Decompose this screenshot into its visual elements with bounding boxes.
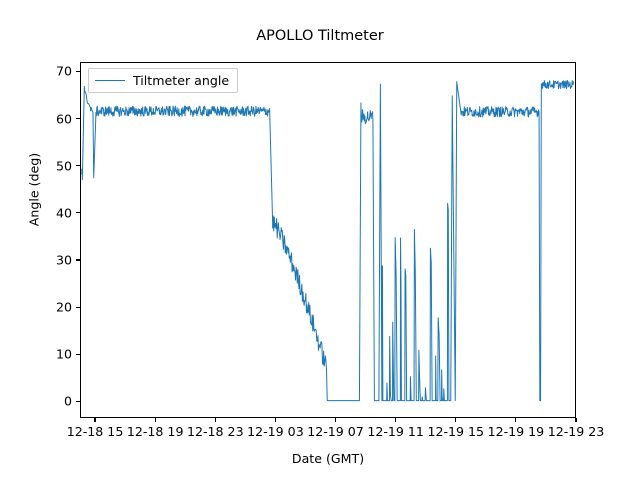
page-title: APOLLO Tiltmeter	[0, 28, 640, 45]
figure-canvas: APOLLO Tiltmeter Angle (deg) Date (GMT) …	[0, 0, 640, 480]
x-tick-label: 12-18 15	[67, 424, 124, 439]
x-tick-label: 12-19 07	[307, 424, 364, 439]
y-tick-label: 10	[20, 347, 72, 362]
x-tick-label: 12-18 23	[187, 424, 244, 439]
y-tick-label: 20	[20, 300, 72, 315]
y-tick-label: 50	[20, 158, 72, 173]
x-tick-mark	[515, 418, 516, 422]
x-tick-label: 12-19 23	[548, 424, 605, 439]
x-tick-mark	[575, 418, 576, 422]
x-tick-mark	[395, 418, 396, 422]
x-axis-label: Date (GMT)	[80, 451, 576, 466]
legend-label: Tiltmeter angle	[133, 73, 229, 88]
x-tick-label: 12-19 11	[367, 424, 424, 439]
x-tick-label: 12-19 19	[488, 424, 545, 439]
x-tick-mark	[335, 418, 336, 422]
x-tick-label: 12-18 19	[127, 424, 184, 439]
y-tick-label: 30	[20, 253, 72, 268]
legend-line-swatch	[95, 80, 125, 81]
x-tick-label: 12-19 03	[247, 424, 304, 439]
y-tick-label: 70	[20, 64, 72, 79]
x-tick-mark	[94, 418, 95, 422]
line-series-tiltmeter-angle	[81, 63, 575, 417]
y-tick-label: 60	[20, 111, 72, 126]
x-tick-mark	[455, 418, 456, 422]
x-tick-mark	[215, 418, 216, 422]
x-tick-mark	[155, 418, 156, 422]
legend: Tiltmeter angle	[88, 68, 238, 93]
y-tick-label: 0	[20, 394, 72, 409]
x-tick-label: 12-19 15	[427, 424, 484, 439]
y-tick-label: 40	[20, 205, 72, 220]
plot-area	[80, 62, 576, 418]
series-path	[82, 80, 574, 400]
x-tick-mark	[275, 418, 276, 422]
